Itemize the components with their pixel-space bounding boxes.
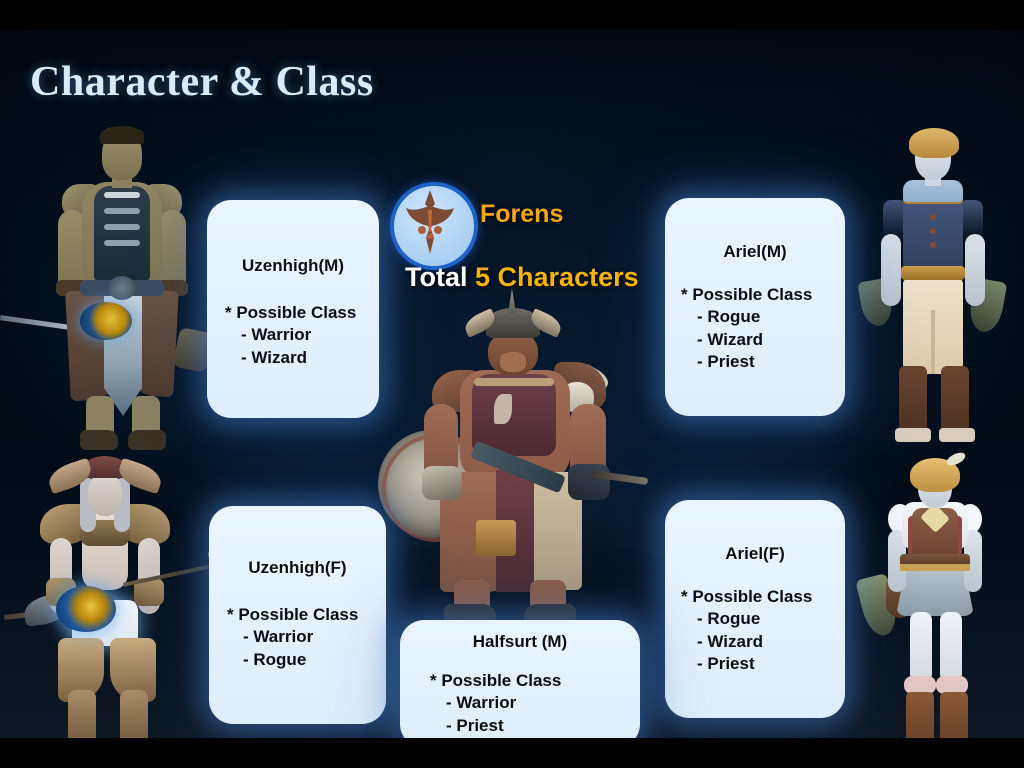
leg-left: [68, 690, 96, 738]
character-name: Halfsurt (M): [400, 632, 640, 652]
class-item: - Wizard: [681, 329, 845, 351]
class-list: * Possible Class - Warrior - Wizard: [207, 302, 379, 369]
class-item: - Wizard: [225, 347, 379, 369]
boot-left: [80, 430, 118, 450]
armor-trim: [474, 378, 554, 386]
class-item: - Priest: [430, 715, 640, 737]
boot-right: [940, 692, 968, 738]
faction-name: Forens: [480, 200, 563, 229]
class-item: - Warrior: [225, 324, 379, 346]
possible-class-heading: * Possible Class: [225, 302, 379, 324]
character-name: Ariel(M): [665, 242, 845, 262]
slide-stage: Character & Class Forens Total 5 Charact…: [0, 30, 1024, 738]
uzenhigh-female-character-art: [10, 450, 225, 738]
class-list: * Possible Class - Warrior - Priest: [400, 670, 640, 737]
skirt: [896, 568, 974, 616]
possible-class-heading: * Possible Class: [227, 604, 386, 626]
letterbox-top: [0, 0, 1024, 30]
arm-right: [965, 234, 985, 306]
class-item: - Warrior: [227, 626, 386, 648]
belt: [901, 266, 965, 280]
page-title: Character & Class: [30, 58, 374, 106]
gauntlet-left: [422, 466, 462, 500]
leg-right: [120, 690, 148, 738]
glowing-orb: [80, 302, 132, 340]
hair: [909, 128, 959, 158]
vest-strap: [104, 208, 140, 214]
ariel-female-character-art: [862, 450, 1022, 738]
character-card-ariel-f[interactable]: Ariel(F) * Possible Class - Rogue - Wiza…: [665, 500, 845, 718]
character-card-uzenhigh-m[interactable]: Uzenhigh(M) * Possible Class - Warrior -…: [207, 200, 379, 418]
hair: [100, 126, 144, 144]
muzzle: [500, 352, 526, 372]
ariel-male-character-art: [855, 130, 1020, 452]
class-item: - Rogue: [227, 649, 386, 671]
character-card-ariel-m[interactable]: Ariel(M) * Possible Class - Rogue - Wiza…: [665, 198, 845, 416]
class-item: - Priest: [681, 653, 845, 675]
character-name: Ariel(F): [665, 544, 845, 564]
class-item: - Priest: [681, 351, 845, 373]
halfsurt-male-character-art: [378, 308, 648, 630]
gauntlet-right: [568, 464, 610, 500]
vest: [94, 186, 150, 282]
head: [88, 472, 122, 516]
total-prefix: Total: [405, 262, 468, 292]
class-list: * Possible Class - Rogue - Wizard - Prie…: [665, 586, 845, 676]
vest-strap: [104, 224, 140, 230]
arm-left: [881, 234, 901, 306]
character-card-halfsurt-m[interactable]: Halfsurt (M) * Possible Class - Warrior …: [400, 620, 640, 738]
presentation-slide: Character & Class Forens Total 5 Charact…: [0, 0, 1024, 768]
class-item: - Rogue: [681, 306, 845, 328]
total-count: 5 Characters: [475, 262, 639, 292]
uzenhigh-male-character-art: [24, 130, 220, 450]
boot-right: [128, 430, 166, 450]
torso-vest: [903, 200, 963, 268]
vest-strap: [104, 192, 140, 198]
trouser-seam: [931, 310, 935, 374]
class-list: * Possible Class - Warrior - Rogue: [209, 604, 386, 671]
possible-class-heading: * Possible Class: [681, 586, 845, 608]
boot-sole-left: [895, 428, 931, 442]
boot-sole-right: [939, 428, 975, 442]
glowing-orb: [56, 586, 116, 632]
letterbox-bottom: [0, 738, 1024, 768]
boot-left: [906, 692, 934, 738]
button: [930, 242, 936, 248]
chest-emblem: [494, 394, 512, 424]
character-name: Uzenhigh(F): [209, 558, 386, 578]
tassel-ornament: [476, 520, 516, 556]
vest-strap: [104, 240, 140, 246]
possible-class-heading: * Possible Class: [681, 284, 845, 306]
class-list: * Possible Class - Rogue - Wizard - Prie…: [665, 284, 845, 374]
leg-right: [940, 612, 962, 682]
button: [930, 214, 936, 220]
boot-right: [941, 366, 969, 436]
character-card-uzenhigh-f[interactable]: Uzenhigh(F) * Possible Class - Warrior -…: [209, 506, 386, 724]
character-name: Uzenhigh(M): [207, 256, 379, 276]
belt-buckle: [108, 276, 136, 300]
button: [930, 228, 936, 234]
possible-class-heading: * Possible Class: [430, 670, 640, 692]
belt-gold-band: [900, 564, 970, 571]
forens-crest-icon: [390, 182, 478, 270]
class-item: - Rogue: [681, 608, 845, 630]
class-item: - Warrior: [430, 692, 640, 714]
boot-left: [899, 366, 927, 436]
total-characters-label: Total 5 Characters: [405, 262, 639, 293]
leg-left: [910, 612, 932, 682]
class-item: - Wizard: [681, 631, 845, 653]
